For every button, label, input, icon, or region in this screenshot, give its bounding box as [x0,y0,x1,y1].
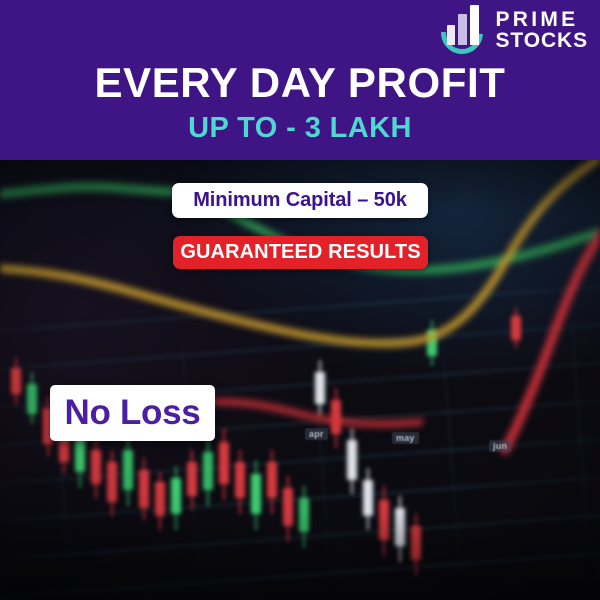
headline: EVERY DAY PROFIT [0,62,600,104]
logo-bar-1 [447,25,455,45]
badge-guaranteed-results-label: GUARANTEED RESULTS [180,241,420,264]
subheadline: UP TO - 3 LAKH [0,114,600,143]
brand-name-line1: PRIME [495,10,588,31]
brand-name-line2: STOCKS [495,31,588,52]
badge-minimum-capital: Minimum Capital – 50k [172,183,428,218]
logo-bar-2 [458,14,467,45]
promo-poster: apr may jun [0,0,600,600]
brand-name: PRIME STOCKS [495,10,588,51]
header-band: PRIME STOCKS EVERY DAY PROFIT UP TO - 3 … [0,0,600,160]
badge-no-loss: No Loss [50,385,215,441]
badge-minimum-capital-label: Minimum Capital – 50k [193,189,407,212]
bar-chart-swoosh-icon [438,6,488,56]
badge-guaranteed-results: GUARANTEED RESULTS [173,236,428,269]
logo-bar-3 [470,5,479,45]
brand-logo[interactable]: PRIME STOCKS [438,6,588,56]
badge-no-loss-label: No Loss [65,393,201,433]
